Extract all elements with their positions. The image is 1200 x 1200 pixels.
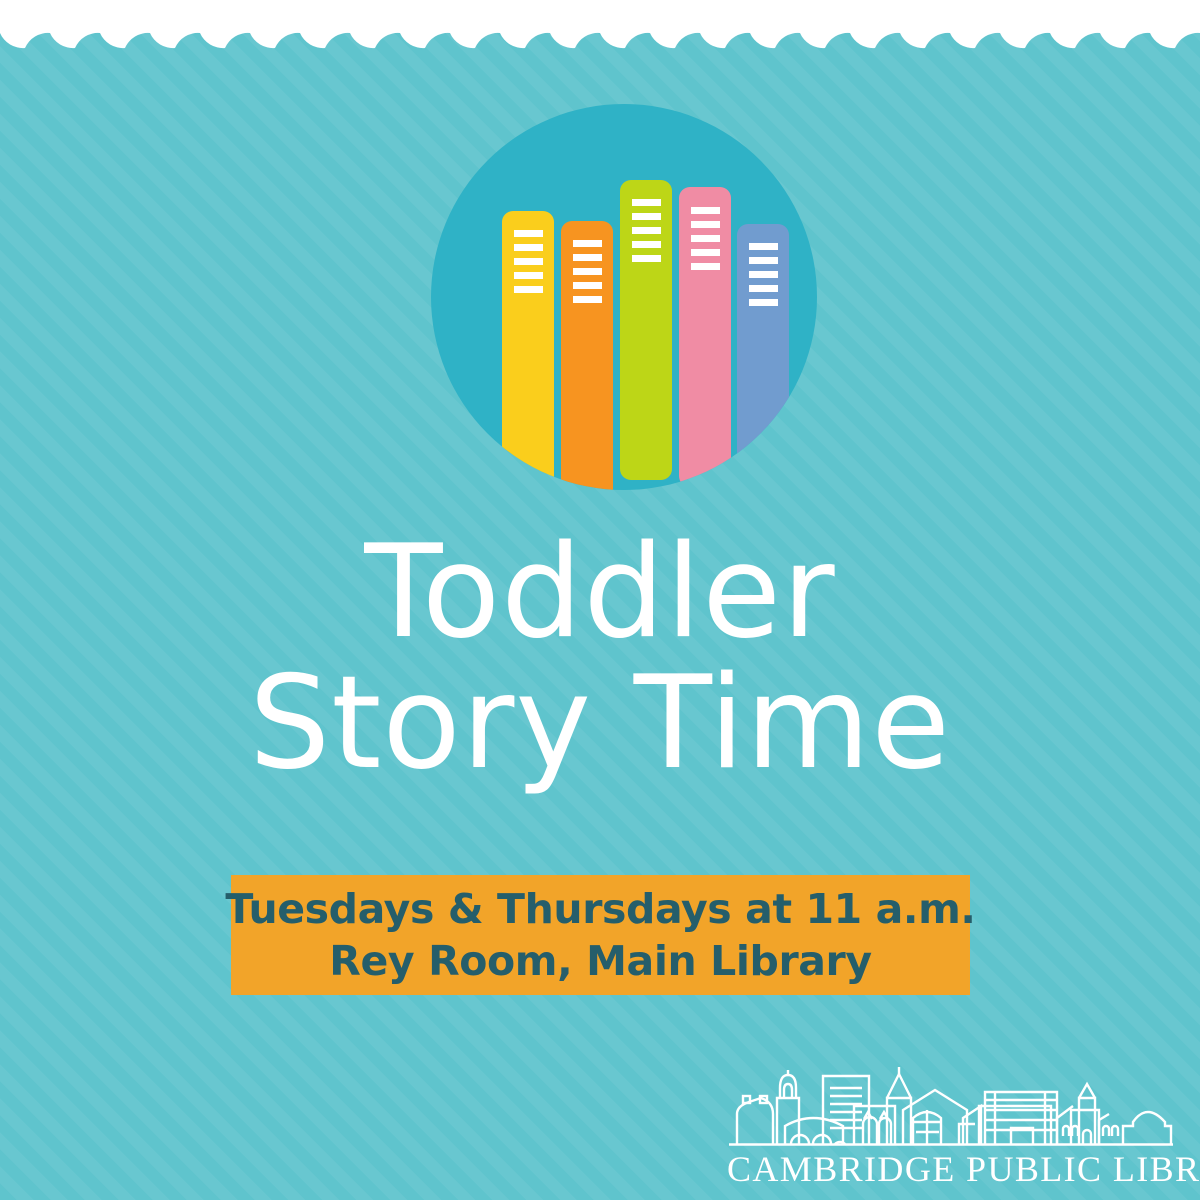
book-orange [561, 221, 613, 490]
book-yellow [502, 211, 554, 490]
library-logo: CAMBRIDGE PUBLIC LIBRARY [727, 1062, 1175, 1188]
event-details-banner: Tuesdays & Thursdays at 11 a.m. Rey Room… [231, 875, 970, 995]
cambridge-skyline-icon [727, 1062, 1175, 1152]
scalloped-top-border [0, 0, 1200, 52]
poster-canvas: Toddler Story Time Tuesdays & Thursdays … [0, 0, 1200, 1200]
book-blue [737, 224, 789, 490]
event-location-text: Rey Room, Main Library [329, 935, 871, 987]
event-title-line-2: Story Time [0, 659, 1200, 790]
library-wordmark: CAMBRIDGE PUBLIC LIBRARY [727, 1148, 1175, 1190]
event-title: Toddler Story Time [0, 528, 1200, 789]
event-schedule-text: Tuesdays & Thursdays at 11 a.m. [225, 883, 975, 935]
book-green [620, 180, 672, 480]
event-title-line-1: Toddler [0, 528, 1200, 659]
book-pink [679, 187, 731, 487]
books-medallion-icon [431, 104, 817, 490]
